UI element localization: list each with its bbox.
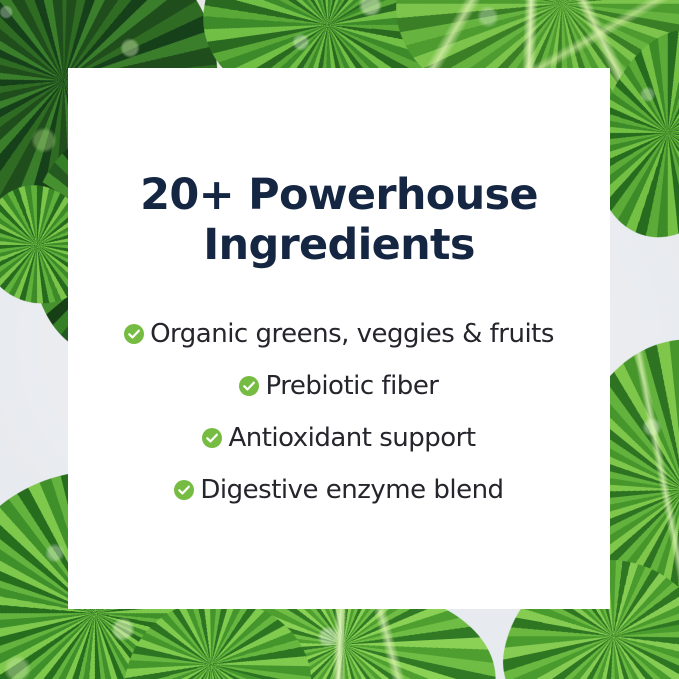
list-item: Digestive enzyme blend (174, 464, 503, 516)
list-item: Organic greens, veggies & fruits (124, 308, 554, 360)
green-check-circle-icon (239, 376, 259, 396)
product-infographic: 20+ Powerhouse Ingredients Organic green… (0, 0, 679, 679)
list-item: Prebiotic fiber (239, 360, 438, 412)
list-item: Antioxidant support (202, 412, 475, 464)
list-item-label: Digestive enzyme blend (200, 477, 503, 503)
green-check-circle-icon (202, 428, 222, 448)
page-title: 20+ Powerhouse Ingredients (104, 68, 574, 271)
content-card: 20+ Powerhouse Ingredients Organic green… (68, 68, 610, 609)
green-check-circle-icon (124, 324, 144, 344)
benefits-list: Organic greens, veggies & fruits Prebiot… (68, 308, 610, 516)
list-item-label: Antioxidant support (228, 425, 475, 451)
green-check-circle-icon (174, 480, 194, 500)
list-item-label: Prebiotic fiber (265, 373, 438, 399)
list-item-label: Organic greens, veggies & fruits (150, 321, 554, 347)
